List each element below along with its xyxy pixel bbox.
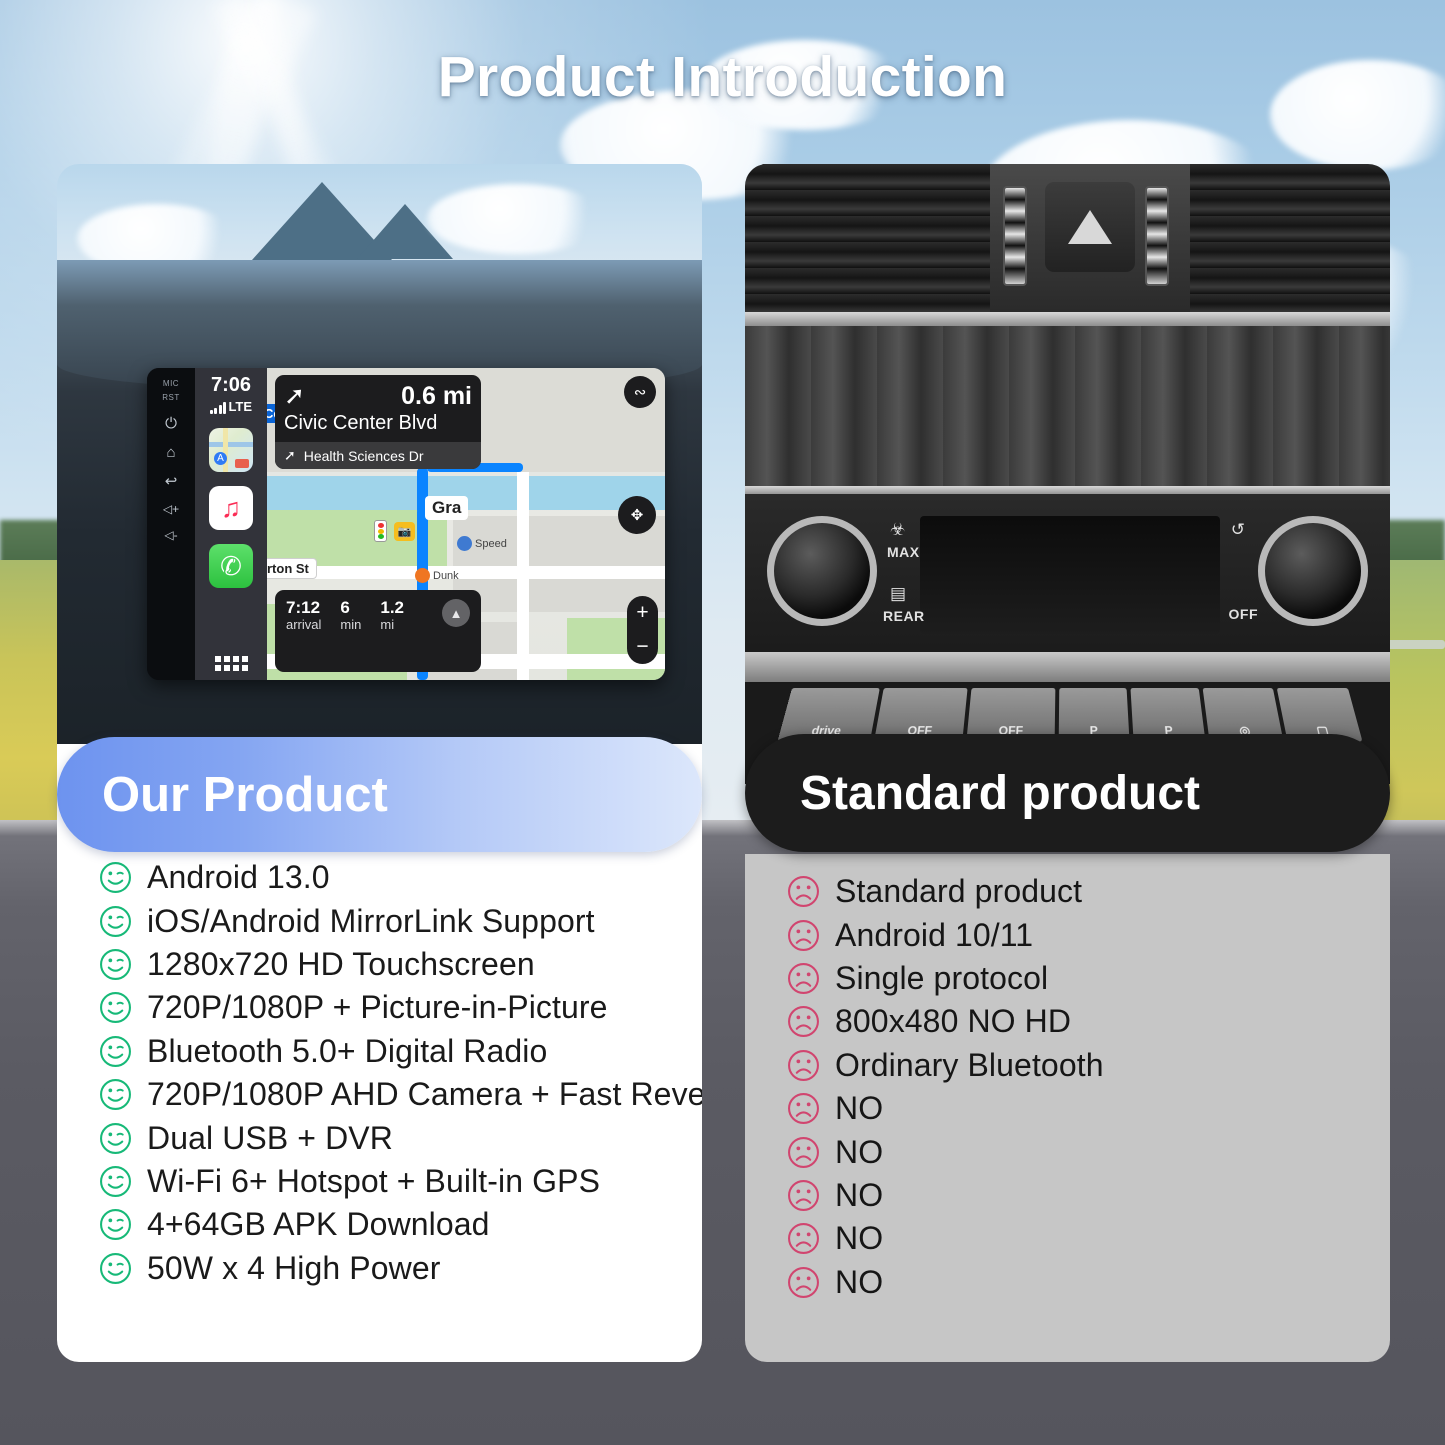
- smiley-wink-icon: [99, 991, 132, 1024]
- network-label: LTE: [228, 399, 252, 414]
- signal-status: LTE: [210, 399, 252, 414]
- feature-row: Standard product: [787, 870, 1390, 913]
- arrival-cell: 7:12 arrival: [286, 599, 321, 632]
- volume-up-icon[interactable]: ◁+: [163, 503, 179, 515]
- feature-row: NO: [787, 1087, 1390, 1130]
- standard-product-badge-label: Standard product: [800, 766, 1200, 821]
- smiley-wink-icon: [99, 905, 132, 938]
- donut-poi: Dunk: [415, 568, 459, 583]
- route-overview-icon[interactable]: ∾: [624, 376, 656, 408]
- clock: 7:06: [211, 374, 251, 397]
- feature-label: iOS/Android MirrorLink Support: [147, 903, 595, 940]
- back-icon[interactable]: ↩: [165, 474, 178, 489]
- feature-row: Wi-Fi 6+ Hotspot + Built-in GPS: [99, 1160, 702, 1203]
- standard-product-panel: ☣ MAX ▤ REAR ↺ OFF drive OFF OFF P P ◎ ▢…: [745, 164, 1390, 1362]
- feature-label: Ordinary Bluetooth: [835, 1047, 1104, 1084]
- feature-label: 800x480 NO HD: [835, 1003, 1071, 1040]
- duration-cell: 6 min: [340, 599, 361, 632]
- wood-trim: [745, 326, 1390, 486]
- feature-row: Android 13.0: [99, 856, 702, 899]
- frowny-icon: [787, 1092, 820, 1125]
- feature-row: iOS/Android MirrorLink Support: [99, 899, 702, 942]
- power-icon[interactable]: ⏻: [165, 416, 177, 431]
- speed-camera-icon: 📷: [394, 522, 415, 541]
- smiley-wink-icon: [99, 861, 132, 894]
- our-product-badge-label: Our Product: [102, 767, 388, 823]
- feature-row: 1280x720 HD Touchscreen: [99, 943, 702, 986]
- radio-slot-empty: [920, 516, 1220, 634]
- feature-row: 800x480 NO HD: [787, 1000, 1390, 1043]
- temperature-knob-left[interactable]: [767, 516, 877, 626]
- rear-defrost-icon[interactable]: ▤: [890, 584, 906, 604]
- feature-label: 720P/1080P + Picture-in-Picture: [147, 989, 608, 1026]
- frowny-icon: [787, 1266, 820, 1299]
- our-product-panel: MIC RST ⏻ ⌂ ↩ ◁+ ◁- 7:06: [57, 164, 702, 1362]
- traffic-light-icon: [374, 520, 387, 542]
- frowny-icon: [787, 1049, 820, 1082]
- music-app-icon[interactable]: ♫: [209, 486, 253, 530]
- turn-street-name: Civic Center Blvd: [275, 412, 481, 442]
- smiley-wink-icon: [99, 1122, 132, 1155]
- duration-label: min: [340, 617, 361, 632]
- smiley-wink-icon: [99, 1208, 132, 1241]
- zoom-out-button[interactable]: −: [636, 635, 648, 659]
- smiley-wink-icon: [99, 1252, 132, 1285]
- feature-label: Android 10/11: [835, 917, 1033, 954]
- frowny-icon: [787, 962, 820, 995]
- max-defrost-label: MAX: [887, 544, 920, 560]
- feature-row: NO: [787, 1130, 1390, 1173]
- feature-label: Single protocol: [835, 960, 1048, 997]
- zoom-in-button[interactable]: +: [636, 601, 648, 625]
- factory-dash-photo: ☣ MAX ▤ REAR ↺ OFF drive OFF OFF P P ◎ ▢: [745, 164, 1390, 784]
- mic-label: MIC: [163, 379, 179, 388]
- home-icon[interactable]: ⌂: [166, 445, 175, 460]
- smiley-wink-icon: [99, 1078, 132, 1111]
- hazard-triangle-icon[interactable]: [1045, 182, 1135, 272]
- frowny-icon: [787, 1179, 820, 1212]
- standard-product-badge: Standard product: [745, 734, 1390, 852]
- feature-label: NO: [835, 1090, 883, 1127]
- chrome-trim: [745, 312, 1390, 326]
- eta-panel[interactable]: 7:12 arrival 6 min 1.2 mi ▲: [275, 590, 481, 672]
- front-defrost-icon[interactable]: ☣: [890, 520, 905, 540]
- feature-row: 50W x 4 High Power: [99, 1247, 702, 1290]
- feature-label: NO: [835, 1134, 883, 1171]
- distance-label: mi: [380, 617, 404, 632]
- factory-dashboard: ☣ MAX ▤ REAR ↺ OFF drive OFF OFF P P ◎ ▢: [745, 164, 1390, 784]
- next-maneuver: ➚ Health Sciences Dr: [275, 442, 481, 469]
- feature-label: Bluetooth 5.0+ Digital Radio: [147, 1033, 547, 1070]
- frowny-icon: [787, 1222, 820, 1255]
- next-street-name: Health Sciences Dr: [304, 448, 424, 464]
- street-label-left: rton St: [267, 558, 317, 579]
- vent-slider[interactable]: [1003, 186, 1027, 286]
- vent-slider[interactable]: [1145, 186, 1169, 286]
- feature-row: Bluetooth 5.0+ Digital Radio: [99, 1030, 702, 1073]
- feature-label: Dual USB + DVR: [147, 1120, 393, 1157]
- ac-off-label: OFF: [1229, 606, 1259, 622]
- speed-poi: Speed: [457, 536, 507, 551]
- standard-product-list-card: Standard productAndroid 10/11Single prot…: [745, 854, 1390, 1362]
- distance-value: 1.2: [380, 599, 404, 617]
- phone-app-icon[interactable]: ✆: [209, 544, 253, 588]
- feature-label: NO: [835, 1177, 883, 1214]
- frowny-icon: [787, 1005, 820, 1038]
- feature-label: 720P/1080P AHD Camera + Fast Reverse: [147, 1076, 702, 1113]
- arrival-label: arrival: [286, 617, 321, 632]
- zoom-controls[interactable]: + −: [627, 596, 658, 664]
- head-unit-bezel: MIC RST ⏻ ⌂ ↩ ◁+ ◁-: [147, 368, 195, 680]
- feature-label: NO: [835, 1220, 883, 1257]
- reset-label: RST: [162, 393, 180, 402]
- feature-row: 4+64GB APK Download: [99, 1203, 702, 1246]
- feature-row: Single protocol: [787, 957, 1390, 1000]
- head-unit-photo: MIC RST ⏻ ⌂ ↩ ◁+ ◁- 7:06: [57, 164, 702, 764]
- our-product-feature-list: Android 13.0iOS/Android MirrorLink Suppo…: [57, 856, 702, 1290]
- air-recirculate-icon[interactable]: ↺: [1231, 520, 1245, 540]
- feature-label: Wi-Fi 6+ Hotspot + Built-in GPS: [147, 1163, 600, 1200]
- maps-app-icon[interactable]: A: [209, 428, 253, 472]
- pan-control-icon[interactable]: ✥: [618, 496, 656, 534]
- page-title: Product Introduction: [0, 44, 1445, 110]
- our-product-badge: Our Product: [57, 737, 702, 852]
- feature-row: Android 10/11: [787, 913, 1390, 956]
- feature-row: 720P/1080P + Picture-in-Picture: [99, 986, 702, 1029]
- smiley-wink-icon: [99, 948, 132, 981]
- feature-row: 720P/1080P AHD Camera + Fast Reverse: [99, 1073, 702, 1116]
- feature-row: NO: [787, 1261, 1390, 1304]
- carplay-screen[interactable]: 7:06 LTE A ♫: [195, 368, 665, 680]
- feature-label: 1280x720 HD Touchscreen: [147, 946, 535, 983]
- signal-bars-icon: [210, 402, 227, 414]
- smiley-wink-icon: [99, 1165, 132, 1198]
- turn-right-icon: ➚: [284, 384, 305, 409]
- arrival-time: 7:12: [286, 599, 321, 617]
- feature-label: NO: [835, 1264, 883, 1301]
- frowny-icon: [787, 919, 820, 952]
- distance-cell: 1.2 mi: [380, 599, 404, 632]
- feature-row: NO: [787, 1217, 1390, 1260]
- feature-label: 50W x 4 High Power: [147, 1250, 440, 1287]
- navigation-banner: ➚ 0.6 mi Civic Center Blvd ➚ Health Scie…: [275, 375, 481, 469]
- feature-row: NO: [787, 1174, 1390, 1217]
- frowny-icon: [787, 1136, 820, 1169]
- street-label-right: Gra: [425, 496, 468, 520]
- duration-value: 6: [340, 599, 361, 617]
- app-grid-icon[interactable]: [215, 656, 248, 671]
- feature-label: Android 13.0: [147, 859, 330, 896]
- windshield-cloud: [427, 184, 607, 254]
- next-turn-right-icon: ➚: [284, 447, 296, 464]
- feature-row: Ordinary Bluetooth: [787, 1044, 1390, 1087]
- chevron-up-icon[interactable]: ▲: [442, 599, 470, 627]
- rear-defrost-label: REAR: [883, 608, 925, 624]
- smiley-wink-icon: [99, 1035, 132, 1068]
- carplay-dock: 7:06 LTE A ♫: [195, 368, 267, 680]
- distance-to-turn: 0.6 mi: [401, 382, 472, 411]
- feature-label: Standard product: [835, 873, 1082, 910]
- temperature-knob-right[interactable]: [1258, 516, 1368, 626]
- volume-down-icon[interactable]: ◁-: [164, 529, 177, 541]
- dashboard: MIC RST ⏻ ⌂ ↩ ◁+ ◁- 7:06: [57, 164, 702, 764]
- map-view[interactable]: Center Blvd Children's Hospital of Phila…: [267, 368, 665, 680]
- head-unit-device[interactable]: MIC RST ⏻ ⌂ ↩ ◁+ ◁- 7:06: [147, 368, 665, 680]
- standard-product-feature-list: Standard productAndroid 10/11Single prot…: [745, 870, 1390, 1304]
- feature-row: Dual USB + DVR: [99, 1116, 702, 1159]
- frowny-icon: [787, 875, 820, 908]
- feature-label: 4+64GB APK Download: [147, 1206, 490, 1243]
